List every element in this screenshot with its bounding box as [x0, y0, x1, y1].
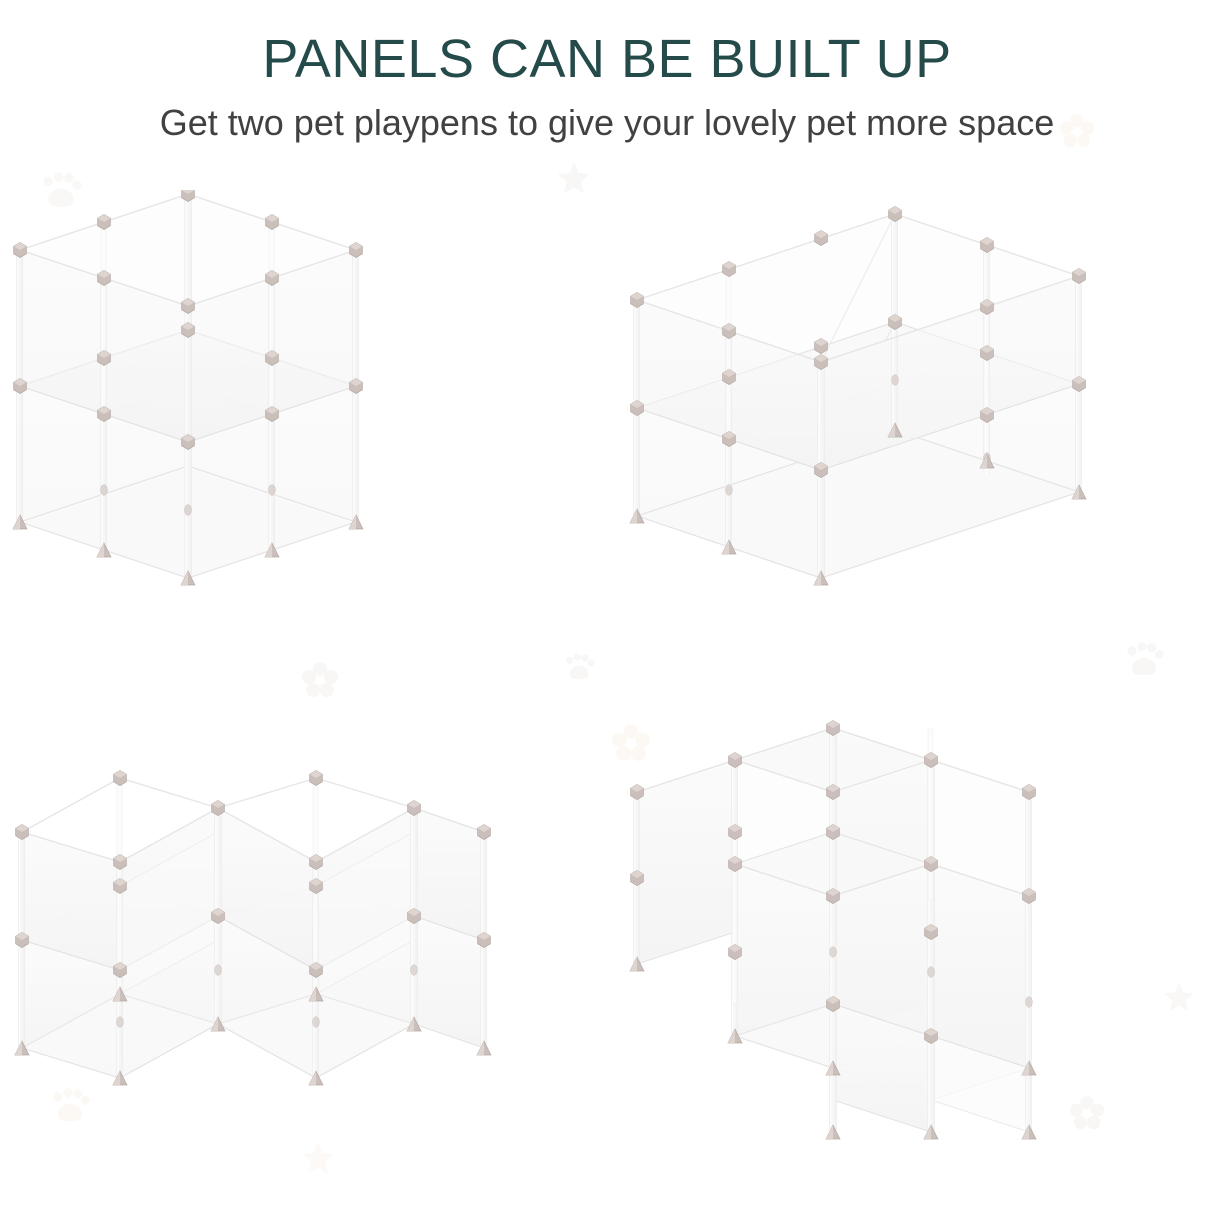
page-title: PANELS CAN BE BUILT UP: [0, 0, 1214, 88]
product-image-grid: [0, 190, 1214, 1214]
playpen-illustration: [607, 702, 1214, 1214]
playpen-illustration: [607, 190, 1214, 702]
playpen-split-level-stepped: [607, 702, 1214, 1214]
playpen-illustration: [0, 702, 607, 1214]
playpen-zigzag-two-level: [0, 702, 607, 1214]
header: PANELS CAN BE BUILT UP Get two pet playp…: [0, 0, 1214, 144]
playpen-wide-rectangular-two-level: [607, 190, 1214, 702]
playpen-tall-square-two-level: [0, 190, 607, 702]
playpen-illustration: [0, 190, 607, 702]
page-subtitle: Get two pet playpens to give your lovely…: [0, 88, 1214, 144]
